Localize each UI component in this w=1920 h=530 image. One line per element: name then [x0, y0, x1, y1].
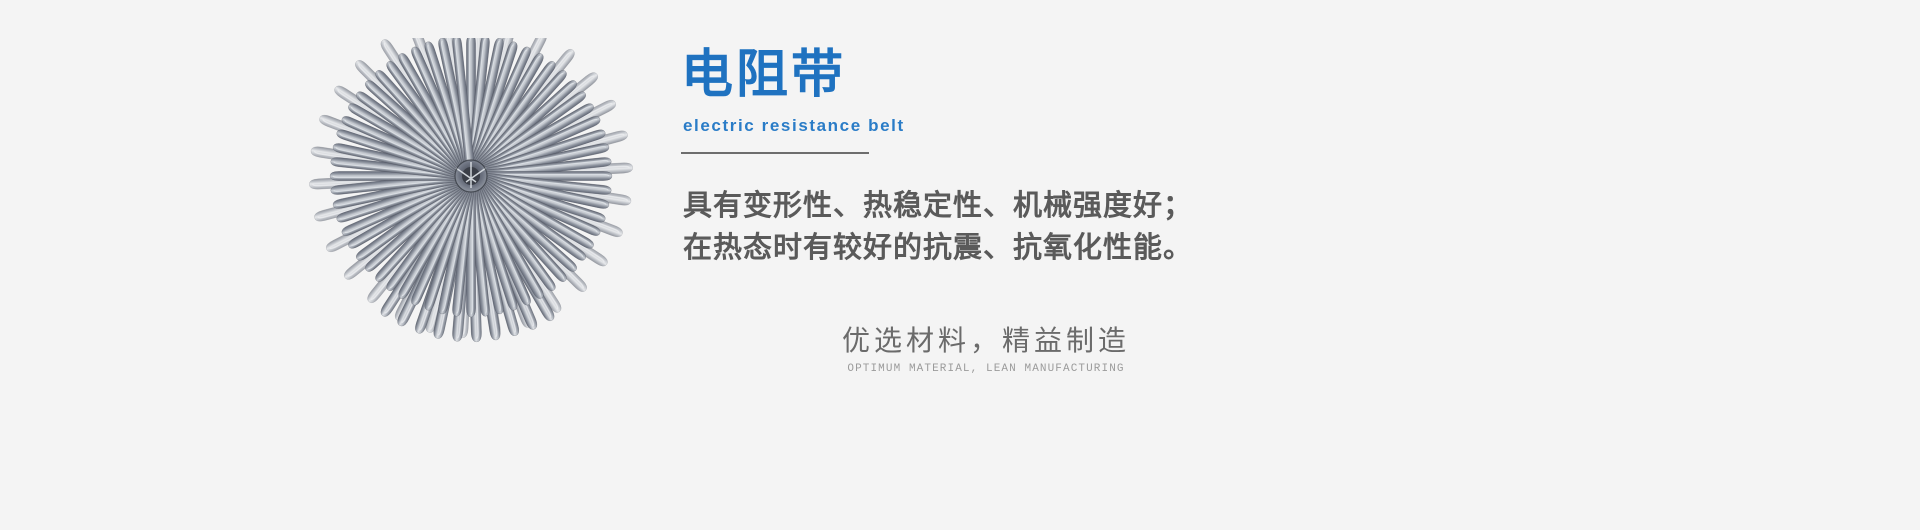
page-subtitle: electric resistance belt	[683, 115, 905, 137]
description-line-1: 具有变形性、热稳定性、机械强度好；	[683, 185, 1303, 227]
page-title: 电阻带	[681, 44, 846, 106]
product-banner: 电阻带 electric resistance belt 具有变形性、热稳定性、…	[0, 0, 1920, 530]
product-image	[298, 38, 644, 358]
banner-content: 电阻带 electric resistance belt 具有变形性、热稳定性、…	[681, 0, 1781, 530]
tagline-block: 优选材料，精益制造 OPTIMUM MATERIAL, LEAN MANUFAC…	[776, 322, 1196, 376]
tagline-chinese: 优选材料，精益制造	[776, 322, 1196, 360]
title-divider	[681, 152, 869, 154]
tagline-english: OPTIMUM MATERIAL, LEAN MANUFACTURING	[776, 362, 1196, 376]
description-block: 具有变形性、热稳定性、机械强度好； 在热态时有较好的抗震、抗氧化性能。	[683, 185, 1303, 269]
description-line-2: 在热态时有较好的抗震、抗氧化性能。	[683, 227, 1303, 269]
